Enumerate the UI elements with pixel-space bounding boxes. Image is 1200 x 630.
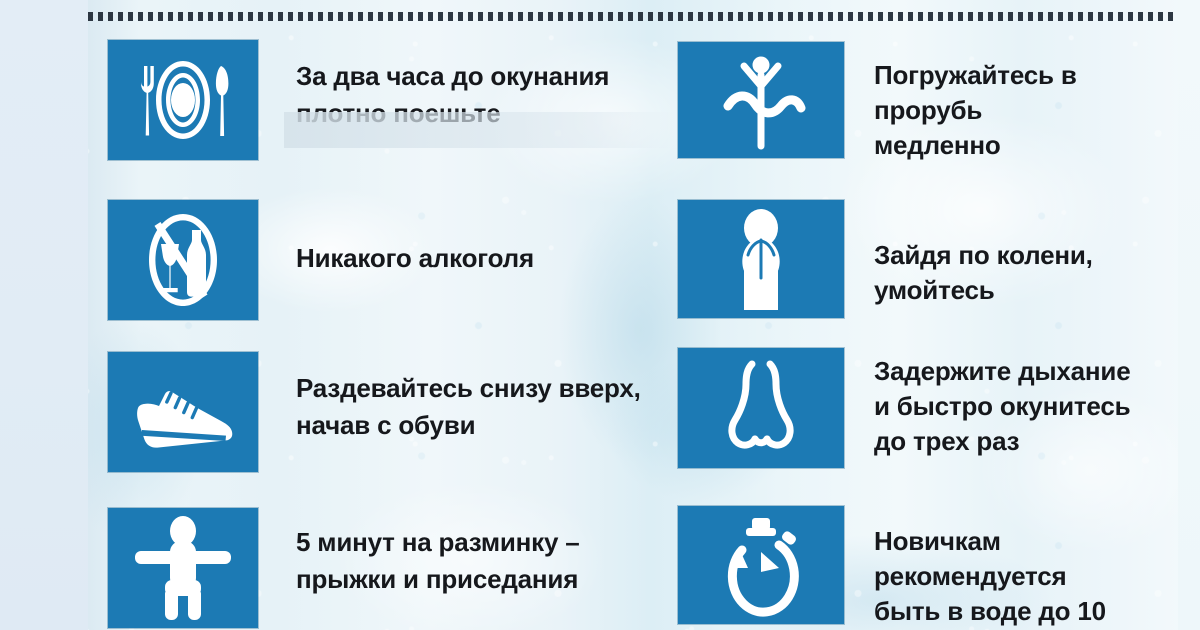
stopwatch-icon — [678, 506, 844, 624]
icon-tile — [678, 348, 844, 468]
list-item-caption: Задержите дыхание и быстро окунитесь до … — [874, 354, 1130, 459]
warmup-figure-icon — [108, 508, 258, 628]
right-column: Погружайтесь в прорубь медленно — [678, 0, 1188, 630]
list-item-caption: 5 минут на разминку – прыжки и приседани… — [296, 524, 580, 598]
icon-tile — [108, 508, 258, 628]
caption-highlight-band — [284, 112, 674, 148]
list-item: Зайдя по колени, умойтесь — [678, 200, 1188, 318]
list-item: Новичкам рекомендуется быть в воде до 10… — [678, 506, 1188, 630]
no-alcohol-icon — [108, 200, 258, 320]
list-item-caption: Зайдя по колени, умойтесь — [874, 238, 1188, 308]
icon-tile — [108, 40, 258, 160]
icon-tile — [678, 200, 844, 318]
icon-tile — [678, 506, 844, 624]
list-item-caption: Никакого алкоголя — [296, 240, 534, 277]
icon-tile — [108, 200, 258, 320]
sneaker-icon — [108, 352, 258, 472]
list-item-caption: Погружайтесь в прорубь медленно — [874, 58, 1188, 163]
left-column: За два часа до окунания плотно поешьте — [108, 0, 668, 630]
list-item-caption: Новичкам рекомендуется быть в воде до 10… — [874, 524, 1188, 630]
list-item-caption: Раздевайтесь снизу вверх, начав с обуви — [296, 370, 641, 444]
list-item: Никакого алкоголя — [108, 200, 534, 320]
icon-tile — [108, 352, 258, 472]
list-item: Раздевайтесь снизу вверх, начав с обуви — [108, 352, 641, 472]
left-edge-band — [0, 0, 88, 630]
list-item: 5 минут на разминку – прыжки и приседани… — [108, 508, 580, 628]
washing-face-icon — [678, 200, 844, 318]
person-entering-water-icon — [678, 42, 844, 158]
list-item: Задержите дыхание и быстро окунитесь до … — [678, 348, 1130, 468]
list-item: Погружайтесь в прорубь медленно — [678, 42, 1188, 163]
plate-fork-knife-icon — [108, 40, 258, 160]
nose-icon — [678, 348, 844, 468]
icon-tile — [678, 42, 844, 158]
infographic-poster: За два часа до окунания плотно поешьте — [0, 0, 1200, 630]
